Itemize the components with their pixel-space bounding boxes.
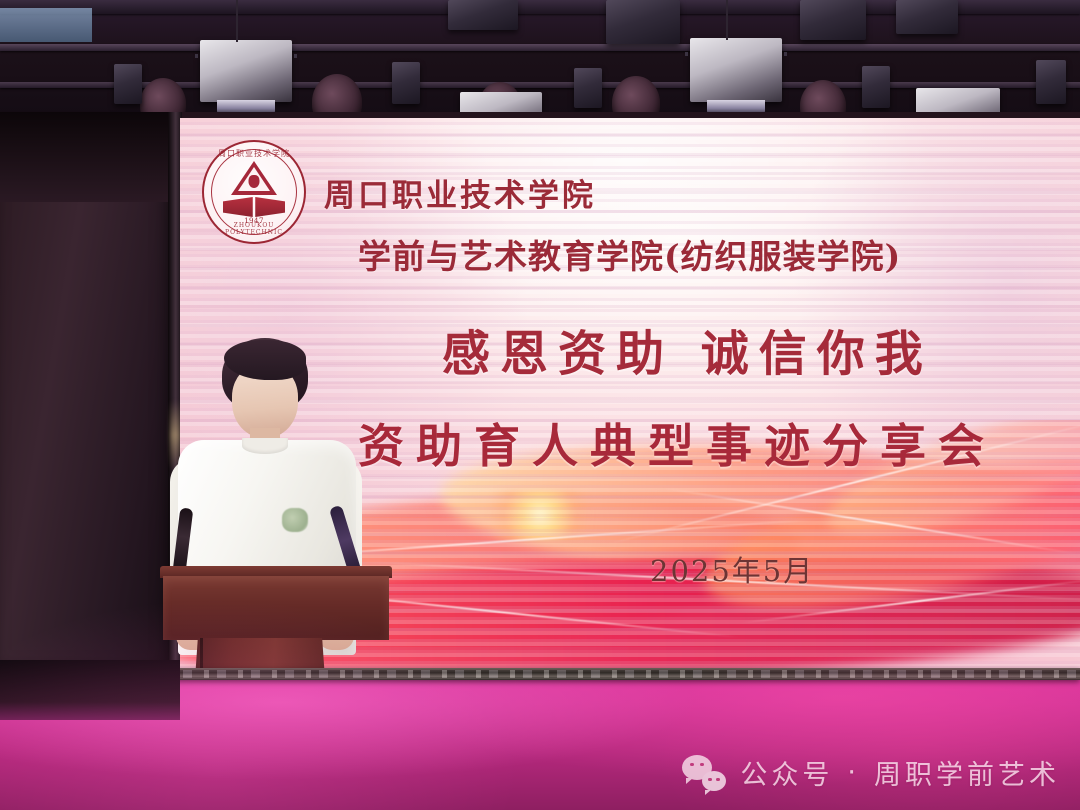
spot-fixture xyxy=(114,64,142,104)
hanging-rod xyxy=(726,0,728,40)
podium-front-panel xyxy=(163,576,389,640)
event-date: 2025年5月 xyxy=(650,548,814,590)
emblem-arc-en: ZHOUKOU POLYTECHNIC xyxy=(204,222,304,236)
department-name: 学前与艺术教育学院(纺织服装学院) xyxy=(358,230,901,278)
organization-row: 周口职业技术学院 1947 ZHOUKOU POLYTECHNIC 周口职业技术… xyxy=(202,140,596,244)
beam-light-fixture xyxy=(200,40,292,102)
moving-head-fixture xyxy=(606,0,680,44)
emblem-arc-cn: 周口职业技术学院 xyxy=(204,148,304,159)
spot-fixture xyxy=(1036,60,1066,104)
organization-name: 周口职业技术学院 xyxy=(324,170,596,215)
watermark-account: 周职学前艺术 xyxy=(874,753,1060,792)
floor-left-shadow xyxy=(0,660,180,720)
watermark-separator: · xyxy=(847,757,860,788)
beam-light-fixture xyxy=(690,38,782,102)
moving-head-fixture xyxy=(896,0,958,34)
school-emblem-icon: 周口职业技术学院 1947 ZHOUKOU POLYTECHNIC xyxy=(202,140,306,244)
event-photo-scene: 周口职业技术学院 1947 ZHOUKOU POLYTECHNIC 周口职业技术… xyxy=(0,0,1080,810)
event-subheadline: 资助育人典型事迹分享会 xyxy=(358,410,996,476)
watermark-label: 公众号 xyxy=(740,753,833,792)
shirt-graphic xyxy=(282,508,308,532)
hanging-rod xyxy=(236,0,238,42)
moving-head-fixture xyxy=(800,0,866,40)
truss-bar xyxy=(0,44,1080,51)
wechat-watermark: 公众号 · 周职学前艺术 xyxy=(682,753,1060,792)
left-wall-shadow xyxy=(0,112,180,202)
wechat-icon xyxy=(682,755,726,791)
ceiling-lighting-rig xyxy=(0,0,1080,120)
moving-head-fixture xyxy=(448,0,518,30)
spot-fixture xyxy=(574,68,602,108)
shirt-collar xyxy=(242,438,288,454)
spot-fixture xyxy=(862,66,890,108)
side-monitor xyxy=(0,8,92,42)
event-headline: 感恩资助 诚信你我 xyxy=(442,314,933,384)
spot-fixture xyxy=(392,62,420,104)
